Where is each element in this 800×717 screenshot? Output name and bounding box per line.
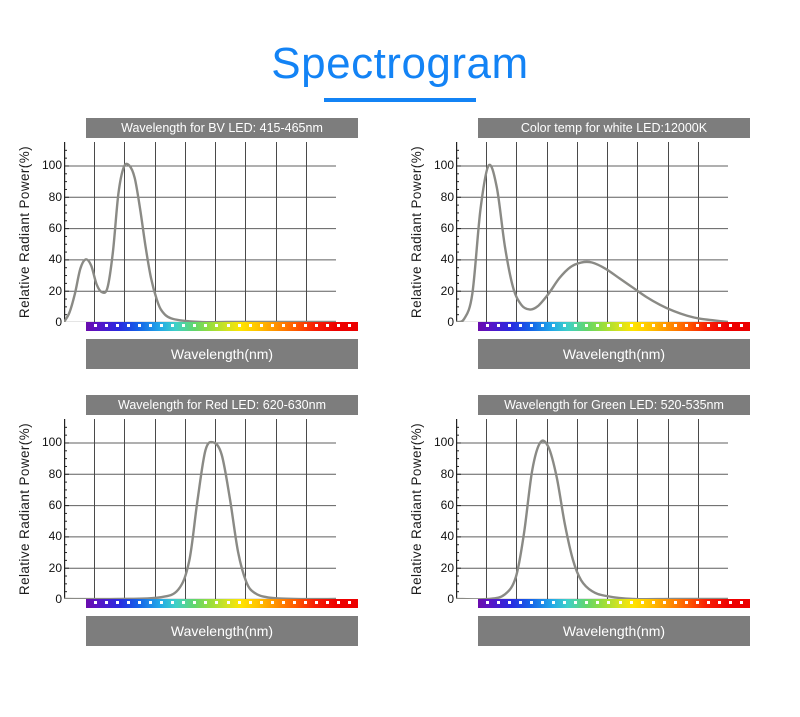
spectrum-tick [227,601,230,604]
chart-title-banner: Color temp for white LED:12000K [478,118,750,138]
spectrum-tick [541,324,544,327]
plot-row: Relative Radiant Power(%) 020406080100 [406,142,790,322]
chart-card-red-led: Wavelength for Red LED: 620-630nm Relati… [8,395,398,646]
spectrum-tick [718,324,721,327]
plot-area [456,142,728,322]
spectrum-tick [685,324,688,327]
y-axis-label: Relative Radiant Power(%) [14,142,34,322]
y-tick-label: 80 [49,467,62,481]
spectrum-tick [271,601,274,604]
chart-card-white-led: Color temp for white LED:12000K Relative… [400,118,790,369]
spectrum-tick [696,601,699,604]
x-axis-banner: Wavelength(nm) [478,616,750,646]
spectrum-tick [171,324,174,327]
spectrum-tick [619,601,622,604]
y-axis-ticks: 020406080100 [34,142,64,322]
spectrum-tick [486,324,489,327]
spectrum-tick [326,601,329,604]
spectrum-tick [729,324,732,327]
y-axis-ticks: 020406080100 [426,142,456,322]
spectrum-tick [552,324,555,327]
chart-card-green-led: Wavelength for Green LED: 520-535nm Rela… [400,395,790,646]
spectrum-tick [127,324,130,327]
y-tick-label: 0 [55,315,62,329]
y-tick-label: 100 [434,435,454,449]
spectrum-tick [630,601,633,604]
spectrum-tick [663,601,666,604]
y-axis-label-text: Relative Radiant Power(%) [409,423,424,595]
spectrum-tick [596,601,599,604]
plot-area [456,419,728,599]
spectrum-tick [160,601,163,604]
spectrum-tick [497,324,500,327]
spectrum-curve [64,164,336,322]
spectrum-tick [227,324,230,327]
spectrum-tick [541,601,544,604]
x-axis-banner: Wavelength(nm) [478,339,750,369]
spectrum-tick [138,324,141,327]
spectrum-tick [508,324,511,327]
chart-title-banner: Wavelength for Green LED: 520-535nm [478,395,750,415]
spectrum-tick [271,324,274,327]
y-axis-ticks: 020406080100 [426,419,456,599]
plot-svg [64,142,336,322]
spectrum-tick [215,601,218,604]
y-tick-label: 0 [55,592,62,606]
spectrum-tick [215,324,218,327]
spectrum-tick [94,324,97,327]
spectrum-tick [249,324,252,327]
spectrum-tick [707,324,710,327]
plot-row: Relative Radiant Power(%) 020406080100 [14,142,398,322]
x-axis-banner: Wavelength(nm) [86,616,358,646]
spectrum-tick [707,601,710,604]
spectrum-tick [149,324,152,327]
spectrum-tick [740,601,743,604]
y-axis-label-text: Relative Radiant Power(%) [17,423,32,595]
spectrum-tick [696,324,699,327]
y-tick-label: 80 [441,467,454,481]
spectrogram-chart-grid: Wavelength for BV LED: 415-465nm Relativ… [0,118,800,646]
spectrum-tick [193,601,196,604]
spectrum-tick [348,601,351,604]
chart-title-banner: Wavelength for Red LED: 620-630nm [86,395,358,415]
spectrum-tick [607,601,610,604]
spectrum-tick [304,324,307,327]
plot-svg [456,142,728,322]
spectrum-tick [530,601,533,604]
spectrum-tick [641,324,644,327]
spectrum-tick [116,324,119,327]
visible-spectrum-bar [478,322,750,331]
plot-area [64,419,336,599]
spectrum-curve [64,442,336,599]
plot-svg [456,419,728,599]
spectrum-tick [293,601,296,604]
spectrum-tick [552,601,555,604]
y-tick-label: 20 [49,284,62,298]
y-tick-label: 40 [49,529,62,543]
spectrum-tick [138,601,141,604]
spectrum-tick [282,601,285,604]
visible-spectrum-bar [86,322,358,331]
spectrum-tick [652,601,655,604]
spectrum-tick [663,324,666,327]
y-tick-label: 80 [49,190,62,204]
spectrum-tick [315,324,318,327]
spectrum-tick [282,324,285,327]
y-tick-label: 80 [441,190,454,204]
spectrum-tick [193,324,196,327]
y-tick-label: 60 [441,498,454,512]
visible-spectrum-bar [86,599,358,608]
y-axis-label: Relative Radiant Power(%) [406,142,426,322]
spectrum-tick [260,601,263,604]
spectrum-tick [182,601,185,604]
spectrum-tick [596,324,599,327]
plot-row: Relative Radiant Power(%) 020406080100 [14,419,398,599]
spectrum-tick [182,324,185,327]
spectrum-tick [105,601,108,604]
spectrum-tick [337,601,340,604]
spectrum-tick [563,324,566,327]
plot-row: Relative Radiant Power(%) 020406080100 [406,419,790,599]
spectrum-tick [685,601,688,604]
spectrum-tick [204,601,207,604]
spectrum-tick [160,324,163,327]
y-tick-label: 40 [441,529,454,543]
spectrum-tick [574,601,577,604]
chart-card-bv-led: Wavelength for BV LED: 415-465nm Relativ… [8,118,398,369]
spectrum-tick [315,601,318,604]
spectrum-tick [238,601,241,604]
spectrum-tick [116,601,119,604]
page-title: Spectrogram [0,42,800,86]
y-tick-label: 0 [447,315,454,329]
y-tick-label: 40 [441,252,454,266]
y-tick-label: 100 [42,435,62,449]
y-axis-label-text: Relative Radiant Power(%) [409,146,424,318]
y-tick-label: 60 [441,221,454,235]
y-tick-label: 20 [441,284,454,298]
y-tick-label: 0 [447,592,454,606]
y-tick-label: 60 [49,498,62,512]
x-axis-banner: Wavelength(nm) [86,339,358,369]
spectrum-tick [304,601,307,604]
spectrum-tick [729,601,732,604]
spectrum-tick [585,324,588,327]
spectrum-tick [337,324,340,327]
chart-title-banner: Wavelength for BV LED: 415-465nm [86,118,358,138]
spectrum-tick [486,601,489,604]
spectrum-tick [641,601,644,604]
spectrum-tick [204,324,207,327]
spectrum-tick [249,601,252,604]
spectrum-tick [508,601,511,604]
spectrum-tick [348,324,351,327]
spectrum-tick [740,324,743,327]
spectrum-tick [127,601,130,604]
spectrum-tick [94,601,97,604]
spectrum-tick [607,324,610,327]
spectrum-tick [652,324,655,327]
title-underline [324,98,476,102]
y-axis-ticks: 020406080100 [34,419,64,599]
spectrum-curve [456,165,728,322]
y-tick-label: 60 [49,221,62,235]
spectrum-tick [619,324,622,327]
spectrum-tick [519,601,522,604]
spectrum-tick [563,601,566,604]
y-tick-label: 40 [49,252,62,266]
spectrum-tick [574,324,577,327]
spectrum-curve [456,441,728,599]
spectrum-tick [497,601,500,604]
y-tick-label: 20 [49,561,62,575]
spectrum-tick [674,324,677,327]
spectrum-tick [326,324,329,327]
y-axis-label: Relative Radiant Power(%) [14,419,34,599]
y-axis-label-text: Relative Radiant Power(%) [17,146,32,318]
spectrum-tick [171,601,174,604]
y-tick-label: 100 [434,158,454,172]
spectrum-tick [718,601,721,604]
plot-svg [64,419,336,599]
spectrum-tick [519,324,522,327]
spectrum-tick [674,601,677,604]
spectrum-tick [149,601,152,604]
spectrum-tick [630,324,633,327]
spectrum-tick [238,324,241,327]
page-header: Spectrogram [0,0,800,102]
visible-spectrum-bar [478,599,750,608]
spectrum-tick [585,601,588,604]
spectrum-tick [530,324,533,327]
y-tick-label: 20 [441,561,454,575]
spectrum-tick [293,324,296,327]
y-axis-label: Relative Radiant Power(%) [406,419,426,599]
y-tick-label: 100 [42,158,62,172]
spectrum-tick [260,324,263,327]
plot-area [64,142,336,322]
spectrum-tick [105,324,108,327]
